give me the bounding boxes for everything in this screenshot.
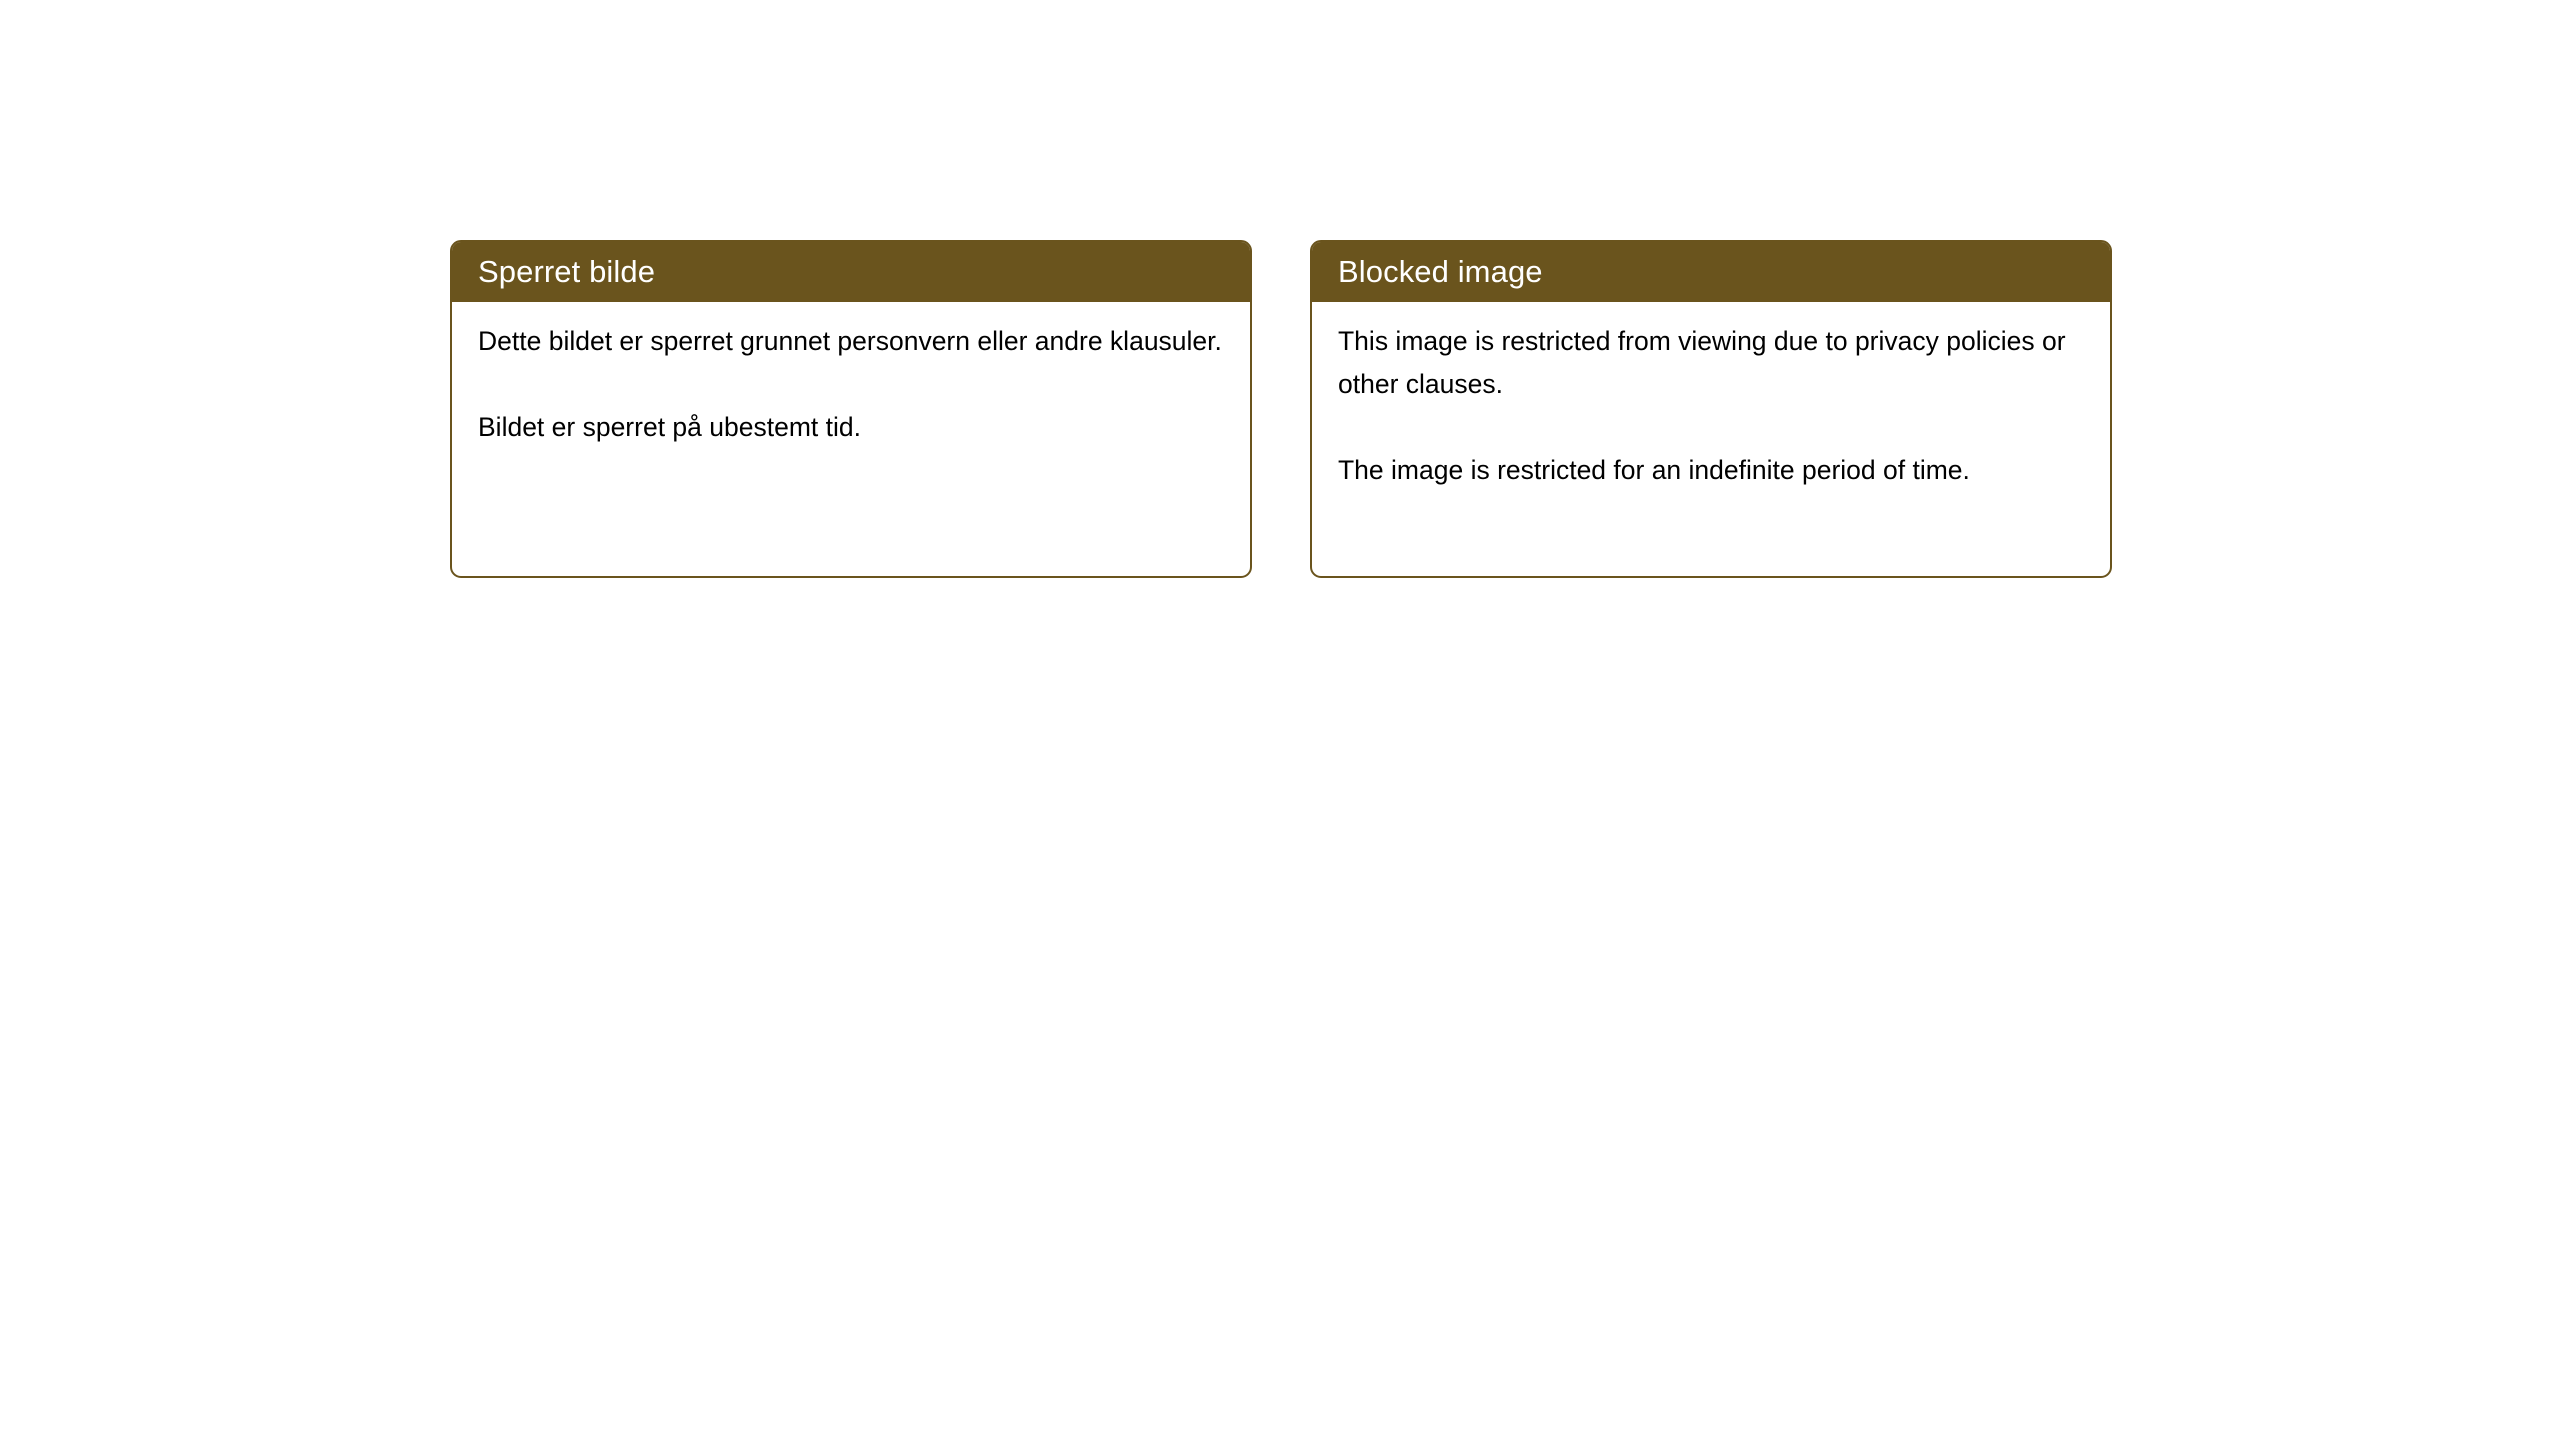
card-paragraph-reason-english: This image is restricted from viewing du… [1338, 320, 2084, 406]
card-body-english: This image is restricted from viewing du… [1312, 302, 2110, 576]
blocked-image-card-norwegian: Sperret bilde Dette bildet er sperret gr… [450, 240, 1252, 578]
card-title-english: Blocked image [1312, 242, 2110, 302]
card-title-norwegian: Sperret bilde [452, 242, 1250, 302]
blocked-image-card-english: Blocked image This image is restricted f… [1310, 240, 2112, 578]
card-paragraph-reason-norwegian: Dette bildet er sperret grunnet personve… [478, 320, 1224, 363]
card-paragraph-duration-english: The image is restricted for an indefinit… [1338, 449, 2084, 492]
card-body-norwegian: Dette bildet er sperret grunnet personve… [452, 302, 1250, 576]
card-paragraph-duration-norwegian: Bildet er sperret på ubestemt tid. [478, 406, 1224, 449]
blocked-image-notice-group: Sperret bilde Dette bildet er sperret gr… [450, 240, 2112, 580]
